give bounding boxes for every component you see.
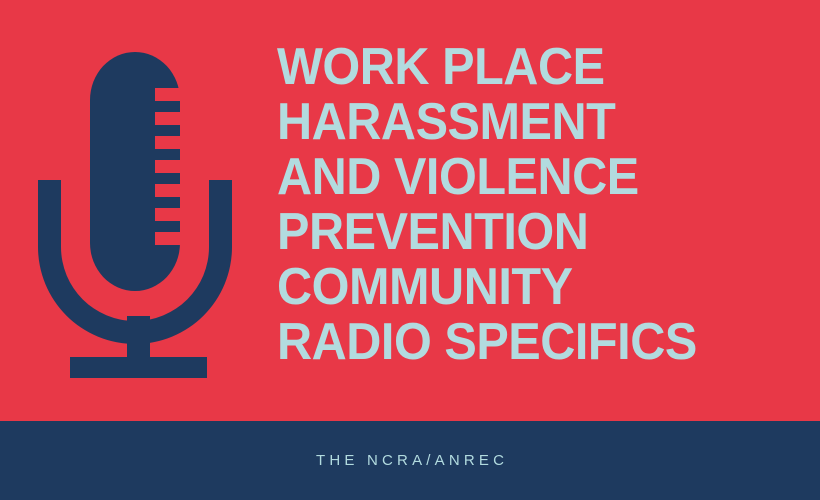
footer-attribution: THE NCRA/ANREC — [312, 452, 508, 469]
mic-stem — [127, 316, 150, 362]
title-line-2: HARASSMENT — [277, 95, 763, 150]
title-line-1: WORK PLACE — [277, 40, 763, 95]
poster-canvas: WORK PLACE HARASSMENT AND VIOLENCE PREVE… — [0, 0, 820, 500]
footer-bar: THE NCRA/ANREC — [0, 421, 820, 500]
title-line-4: PREVENTION — [277, 205, 763, 260]
title-line-3: AND VIOLENCE — [277, 150, 763, 205]
title-line-6: RADIO SPECIFICS — [277, 315, 763, 370]
microphone-icon — [0, 0, 270, 421]
title-line-5: COMMUNITY — [277, 260, 763, 315]
page-title: WORK PLACE HARASSMENT AND VIOLENCE PREVE… — [277, 40, 797, 370]
mic-base — [70, 357, 207, 378]
